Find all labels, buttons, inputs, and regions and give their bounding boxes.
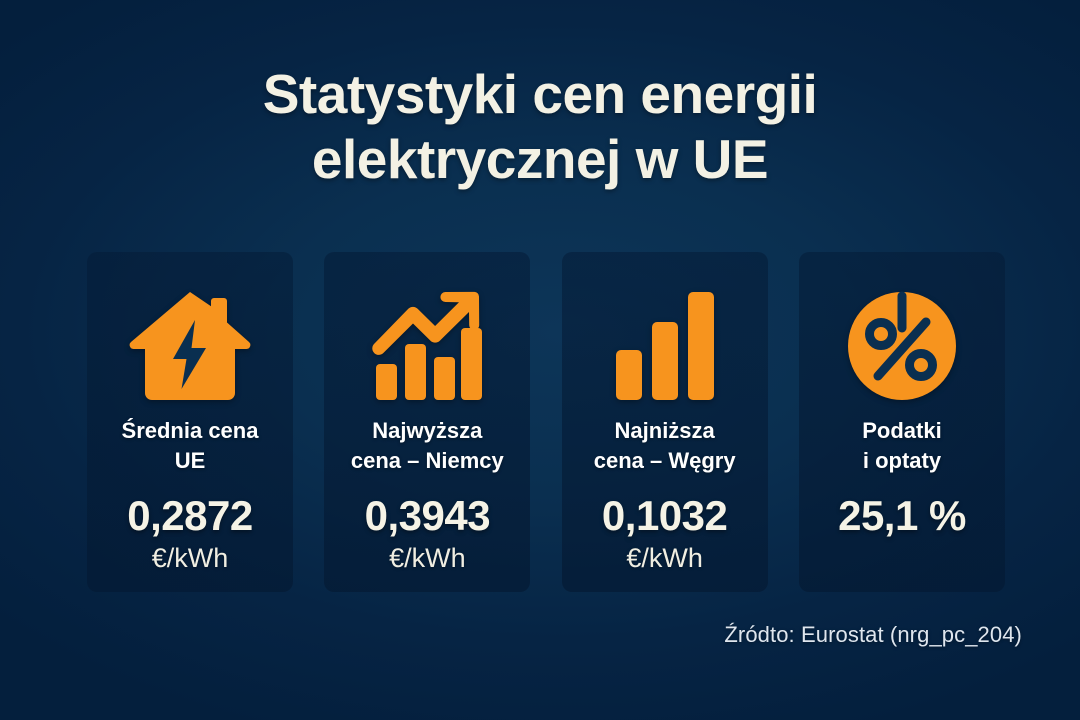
stat-card-value: 0,2872	[127, 494, 252, 538]
bar-chart-icon	[614, 278, 716, 414]
infographic-poster: Statystyki cen energii elektrycznej w UE…	[0, 0, 1080, 720]
stat-card-taxes: Podatki i optaty 25,1 %	[799, 252, 1005, 592]
stat-card-label: Podatki i optaty	[856, 416, 947, 476]
source-note: Źródto: Eurostat (nrg_pc_204)	[724, 622, 1022, 648]
stat-card-label: Najwyższa cena – Niemcy	[345, 416, 510, 476]
growth-chart-arrow-icon	[368, 278, 486, 414]
stat-card-label: Średnia cena UE	[116, 416, 265, 476]
house-lightning-icon	[129, 278, 251, 414]
stat-cards-row: Średnia cena UE 0,2872 €/kWh Najwyższa c…	[87, 252, 1005, 592]
stat-card-unit: €/kWh	[626, 544, 703, 574]
stat-card-unit: €/kWh	[389, 544, 466, 574]
stat-card-average-price: Średnia cena UE 0,2872 €/kWh	[87, 252, 293, 592]
stat-card-label: Najniższa cena – Węgry	[588, 416, 742, 476]
stat-card-value: 0,3943	[365, 494, 490, 538]
title-line-2: elektrycznej w UE	[90, 127, 990, 192]
page-title: Statystyki cen energii elektrycznej w UE	[0, 62, 1080, 192]
stat-card-unit: €/kWh	[152, 544, 229, 574]
stat-card-highest-price: Najwyższa cena – Niemcy 0,3943 €/kWh	[324, 252, 530, 592]
stat-card-value: 25,1 %	[838, 494, 966, 538]
stat-card-lowest-price: Najniższa cena – Węgry 0,1032 €/kWh	[562, 252, 768, 592]
stat-card-value: 0,1032	[602, 494, 727, 538]
title-line-1: Statystyki cen energii	[90, 62, 990, 127]
percent-circle-icon	[846, 278, 958, 414]
